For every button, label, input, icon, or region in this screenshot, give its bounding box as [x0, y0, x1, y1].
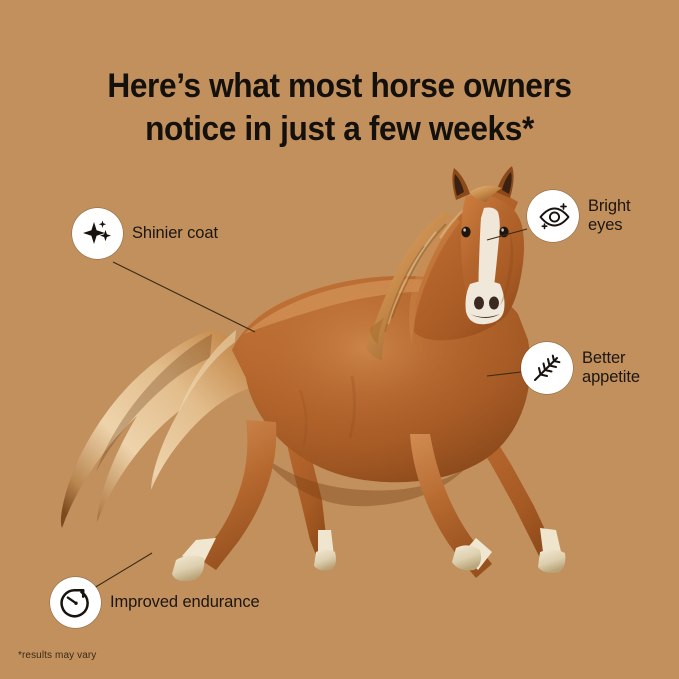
badge-circle-improved-endurance	[50, 577, 101, 628]
badge-label-shinier-coat: Shinier coat	[132, 224, 218, 243]
sparkle-icon	[81, 217, 115, 251]
badge-label-better-appetite: Better appetite	[582, 349, 640, 388]
badge-label-improved-endurance: Improved endurance	[110, 593, 260, 612]
page-title: Here’s what most horse owners notice in …	[24, 65, 655, 152]
feature-badge-better-appetite: Better appetite	[521, 342, 640, 394]
leader-line-shinier-coat	[113, 262, 255, 332]
leader-line-better-appetite	[487, 372, 521, 376]
badge-circle-shinier-coat	[72, 208, 123, 259]
badge-circle-better-appetite	[521, 342, 573, 394]
stopwatch-icon	[59, 586, 93, 620]
feature-badge-shinier-coat: Shinier coat	[72, 208, 218, 259]
feature-badge-bright-eyes: Bright eyes	[527, 190, 631, 242]
poster-canvas: Here’s what most horse owners notice in …	[0, 0, 679, 679]
wheat-icon	[530, 351, 564, 385]
eye-icon	[536, 199, 570, 233]
leader-line-bright-eyes	[487, 229, 527, 240]
badge-label-bright-eyes: Bright eyes	[588, 197, 631, 236]
feature-badge-improved-endurance: Improved endurance	[50, 577, 260, 628]
badge-circle-bright-eyes	[527, 190, 579, 242]
footnote-disclaimer: *results may vary	[18, 650, 96, 661]
